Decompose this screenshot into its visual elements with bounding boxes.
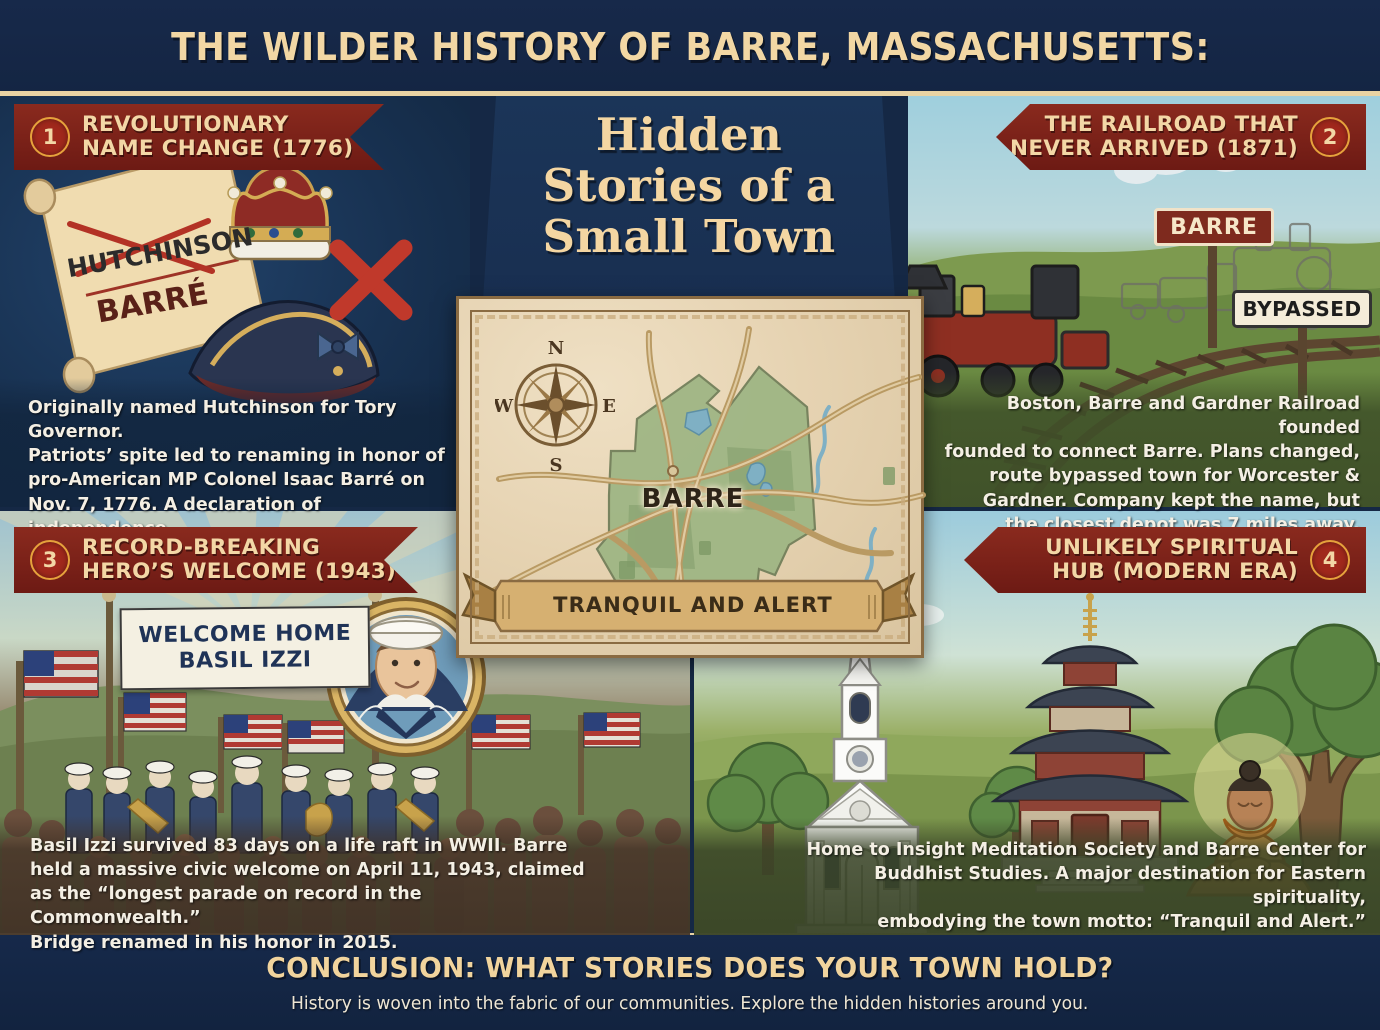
ribbon-title-1: REVOLUTIONARY NAME CHANGE (1776) bbox=[82, 113, 353, 161]
footer-subtitle: History is woven into the fabric of our … bbox=[291, 993, 1088, 1014]
ribbon-title-4: UNLIKELY SPIRITUAL HUB (MODERN ERA) bbox=[1045, 536, 1298, 584]
svg-text:W: W bbox=[495, 396, 514, 417]
badge-number-2: 2 bbox=[1310, 117, 1350, 157]
poster-header: THE WILDER HISTORY OF BARRE, MASSACHUSET… bbox=[0, 0, 1380, 93]
welcome-banner: WELCOME HOME BASIL IZZI bbox=[120, 606, 371, 691]
badge-number-4: 4 bbox=[1310, 540, 1350, 580]
caption-railroad-never-arrived: Boston, Barre and Gardner Railroad found… bbox=[932, 392, 1360, 537]
caption-spiritual-hub: Home to Insight Meditation Society and B… bbox=[786, 838, 1366, 935]
svg-text:S: S bbox=[550, 455, 563, 475]
ribbon-panel-2: THE RAILROAD THAT NEVER ARRIVED (1871) 2 bbox=[996, 104, 1366, 170]
welcome-banner-line1: WELCOME HOME bbox=[138, 620, 351, 649]
ribbon-title-3: RECORD-BREAKING HERO’S WELCOME (1943) bbox=[82, 536, 396, 584]
town-map-card: N S W E BARRE TRANQUIL AND ALERT bbox=[456, 296, 924, 658]
caption-heros-welcome: Basil Izzi survived 83 days on a life ra… bbox=[30, 834, 590, 955]
map-town-label: BARRE bbox=[459, 484, 927, 514]
sign-barre: BARRE bbox=[1154, 208, 1274, 246]
caption-revolutionary-name-change: Originally named Hutchinson for Tory Gov… bbox=[28, 396, 458, 541]
svg-text:E: E bbox=[602, 396, 616, 417]
badge-number-1: 1 bbox=[30, 117, 70, 157]
sign-bypassed: BYPASSED bbox=[1232, 290, 1372, 328]
footer-title: CONCLUSION: WHAT STORIES DOES YOUR TOWN … bbox=[266, 951, 1113, 984]
page-title: THE WILDER HISTORY OF BARRE, MASSACHUSET… bbox=[171, 25, 1210, 69]
badge-number-3: 3 bbox=[30, 540, 70, 580]
welcome-banner-line2: BASIL IZZI bbox=[179, 647, 312, 675]
ribbon-title-2: THE RAILROAD THAT NEVER ARRIVED (1871) bbox=[1010, 113, 1298, 161]
ribbon-panel-4: UNLIKELY SPIRITUAL HUB (MODERN ERA) 4 bbox=[964, 527, 1366, 593]
ribbon-panel-1: 1 REVOLUTIONARY NAME CHANGE (1776) bbox=[14, 104, 384, 170]
center-title: Hidden Stories of a Small Town bbox=[470, 110, 908, 263]
ribbon-panel-3: 3 RECORD-BREAKING HERO’S WELCOME (1943) bbox=[14, 527, 418, 593]
svg-text:N: N bbox=[548, 338, 564, 359]
map-motto-label: TRANQUIL AND ALERT bbox=[459, 593, 927, 617]
compass-rose-icon: N S W E bbox=[495, 335, 617, 475]
infographic-poster: THE WILDER HISTORY OF BARRE, MASSACHUSET… bbox=[0, 0, 1380, 1030]
